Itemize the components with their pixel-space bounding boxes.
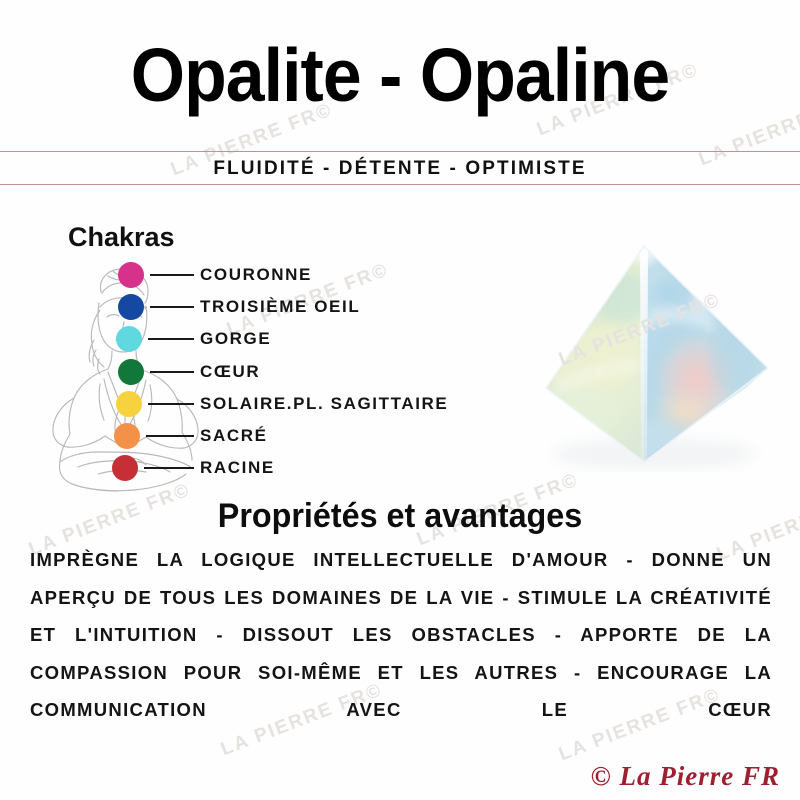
infographic-canvas: LA PIERRE FR©LA PIERRE FR©LA PIERRE FR©L… bbox=[0, 0, 800, 800]
chakra-leader-line bbox=[150, 274, 194, 276]
chakra-leader-line bbox=[148, 403, 194, 405]
chakra-leader-line bbox=[150, 371, 194, 373]
chakra-dot-icon bbox=[114, 423, 140, 449]
chakra-leader-line bbox=[150, 306, 194, 308]
chakra-label: GORGE bbox=[200, 329, 271, 349]
chakra-dot-icon bbox=[118, 262, 144, 288]
chakra-label: CŒUR bbox=[200, 362, 260, 382]
chakras-heading: Chakras bbox=[68, 222, 175, 252]
page-subtitle: FLUIDITÉ - DÉTENTE - OPTIMISTE bbox=[0, 158, 800, 180]
divider-bottom bbox=[0, 184, 800, 185]
page-title: Opalite - Opaline bbox=[28, 28, 772, 122]
chakra-dot-icon bbox=[116, 326, 142, 352]
divider-top bbox=[0, 151, 800, 152]
properties-heading: Propriétés et avantages bbox=[20, 496, 780, 536]
properties-body: IMPRÈGNE LA LOGIQUE INTELLECTUELLE D'AMO… bbox=[30, 541, 772, 766]
brand-signature: © La Pierre FR bbox=[591, 760, 780, 792]
chakra-leader-line bbox=[148, 338, 194, 340]
chakra-leader-line bbox=[146, 435, 194, 437]
chakra-leader-line bbox=[144, 467, 194, 469]
chakra-label: SACRÉ bbox=[200, 426, 268, 446]
opalite-pyramid-image bbox=[536, 240, 780, 472]
chakra-label: COURONNE bbox=[200, 265, 312, 285]
chakra-list: COURONNETROISIÈME OEILGORGECŒURSOLAIRE.P… bbox=[0, 262, 560, 492]
chakra-dot-icon bbox=[112, 455, 138, 481]
chakra-label: SOLAIRE.PL. SAGITTAIRE bbox=[200, 394, 448, 414]
chakra-label: TROISIÈME OEIL bbox=[200, 297, 360, 317]
chakra-dot-icon bbox=[118, 294, 144, 320]
chakra-dot-icon bbox=[118, 359, 144, 385]
chakra-dot-icon bbox=[116, 391, 142, 417]
chakra-label: RACINE bbox=[200, 458, 275, 478]
